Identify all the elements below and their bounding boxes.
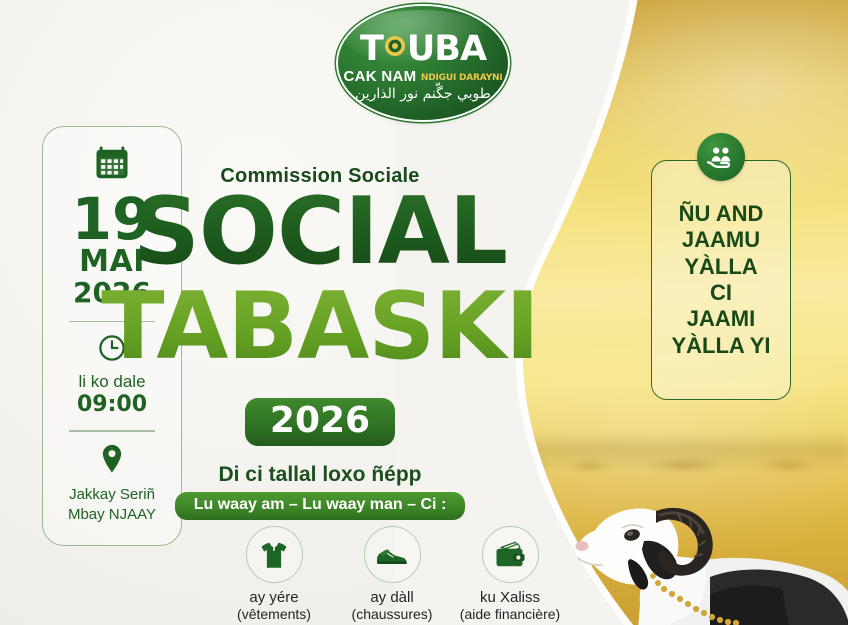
slogan-pill: Lu waay am – Lu waay man – Ci : (175, 492, 466, 520)
logo-subtitle: CAK NAM NDIGUI DARAYNI (338, 69, 508, 84)
benefit-label-shoes: ay dàll (340, 589, 444, 606)
poster-canvas: TUBA CAK NAM NDIGUI DARAYNI طوبي جگّنم ن… (0, 0, 848, 625)
prayer-line-5: JAAMI (687, 306, 755, 331)
logo-letters-uba: UBA (407, 29, 486, 69)
benefit-item-shoes: ay dàll (chaussures) (340, 526, 444, 622)
polo-shirt-icon (246, 526, 303, 583)
wallet-icon (482, 526, 539, 583)
prayer-line-6: YÀLLA YI (671, 333, 770, 358)
prayer-line-2: JAAMU (682, 227, 760, 252)
logo-wordmark: TUBA (338, 32, 508, 67)
ram-sheep-illustration (560, 455, 848, 625)
year-badge: 2026 (245, 398, 395, 446)
prayer-message-text: ÑU AND JAAMU YÀLLA CI JAAMI YÀLLA YI (671, 201, 770, 359)
benefit-label-money: ku Xaliss (458, 589, 562, 606)
brand-logo: TUBA CAK NAM NDIGUI DARAYNI طوبي جگّنم ن… (328, 4, 518, 122)
benefits-list: ay yére (vêtements) ay dàll (chaussures) (222, 526, 562, 622)
prayer-line-3: YÀLLA (684, 254, 757, 279)
prayer-line-1: ÑU AND (679, 201, 764, 226)
benefit-sublabel-shoes: (chaussures) (340, 606, 444, 622)
shoe-icon (364, 526, 421, 583)
charity-hands-icon (697, 133, 745, 181)
logo-letter-t: T (360, 29, 383, 69)
event-tagline: Di ci tallal loxo ñépp (0, 463, 640, 487)
benefit-sublabel-clothes: (vêtements) (222, 606, 326, 622)
benefit-sublabel-money: (aide financière) (458, 606, 562, 622)
logo-subtitle-main: CAK NAM (343, 68, 416, 85)
prayer-line-4: CI (710, 280, 732, 305)
logo-arabic-text: طوبي جگّنم نور الذارين (338, 86, 508, 103)
benefit-item-money: ku Xaliss (aide financière) (458, 526, 562, 622)
benefit-item-clothes: ay yére (vêtements) (222, 526, 326, 622)
title-line-social: SOCIAL (0, 185, 640, 278)
benefit-label-clothes: ay yére (222, 589, 326, 606)
title-line-tabaski: TABASKI (0, 280, 640, 373)
logo-subtitle-arabiclatin: NDIGUI DARAYNI (421, 73, 503, 83)
year-badge-container: 2026 (0, 398, 640, 446)
logo-ellipse: TUBA CAK NAM NDIGUI DARAYNI طوبي جگّنم ن… (338, 6, 508, 120)
slogan-pill-container: Lu waay am – Lu waay man – Ci : (0, 492, 640, 520)
prayer-message-card: ÑU AND JAAMU YÀLLA CI JAAMI YÀLLA YI (651, 160, 791, 400)
